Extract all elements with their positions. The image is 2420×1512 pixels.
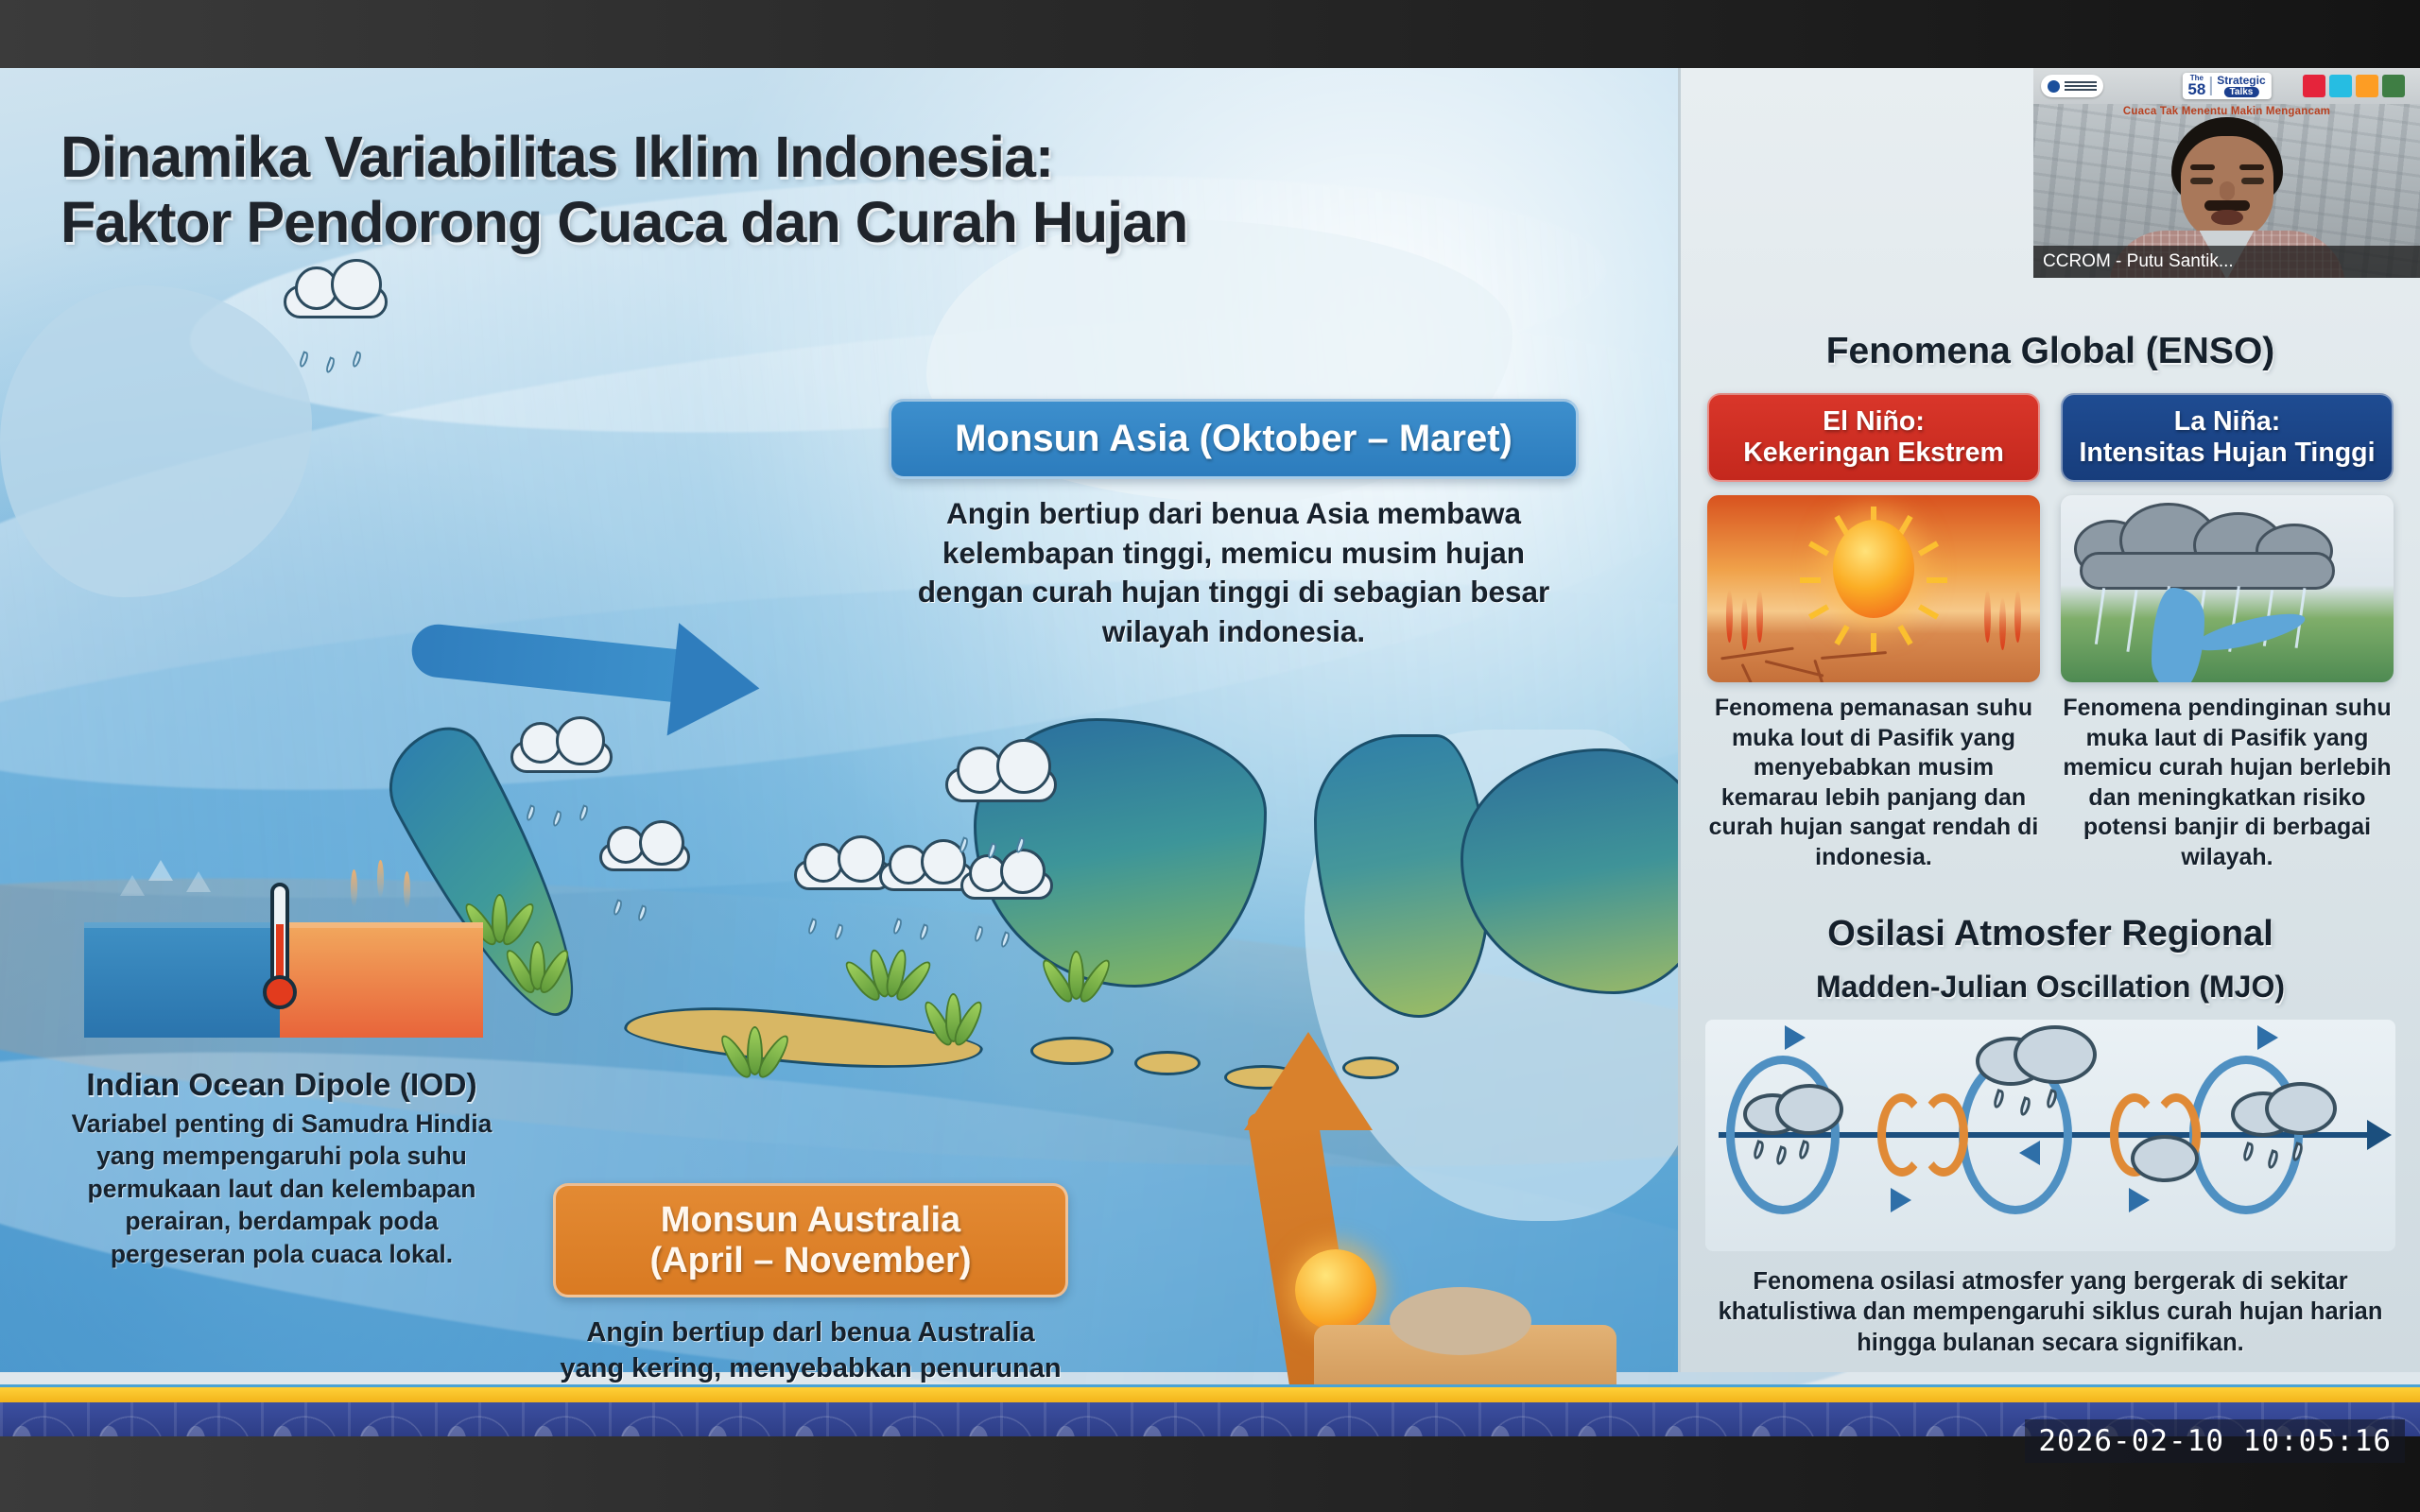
- sdg-icon-6: [2329, 75, 2352, 97]
- rain-cloud-icon: [284, 285, 388, 344]
- participant-video-tile[interactable]: The 58 Strategic Talks Cuaca Tak Menentu…: [2033, 68, 2420, 278]
- rain-cloud-icon: [794, 860, 892, 915]
- el-nino-tag: El Niño: Kekeringan Ekstrem: [1707, 393, 2040, 482]
- rain-cloud-icon: [599, 843, 690, 894]
- pip-banner-text: Cuaca Tak Menentu Makin Mengancam: [2033, 106, 2420, 117]
- iod-description: Variabel penting di Samudra Hindia yang …: [55, 1108, 509, 1270]
- dust-cloud-icon: [1390, 1287, 1531, 1355]
- footer-gold-band: [0, 1387, 2420, 1402]
- iod-heading: Indian Ocean Dipole (IOD): [55, 1068, 509, 1104]
- enso-heading: Fenomena Global (ENSO): [1681, 331, 2420, 372]
- osilasi-heading: Osilasi Atmosfer Regional: [1681, 914, 2420, 954]
- nose: [2220, 181, 2235, 200]
- sun-icon: [1833, 520, 1914, 618]
- island-nusa-tenggara: [1030, 1037, 1114, 1065]
- el-nino-description: Fenomena pemanasan suhu muka lout di Pas…: [1707, 694, 2040, 872]
- cloud-icon: [2014, 1025, 2097, 1084]
- cloud-icon: [1775, 1084, 1843, 1135]
- badge-divider: [2210, 77, 2212, 95]
- rain-cloud-icon: [879, 862, 974, 915]
- logo-wordmark: [2065, 81, 2097, 91]
- monsun-australia-pill-line-2: (April – November): [650, 1241, 972, 1280]
- event-badge-number: 58: [2187, 82, 2205, 97]
- title-line-1: Dinamika Variabilitas Iklim Indonesia:: [60, 125, 1053, 189]
- drought-illustration: [1707, 495, 2040, 682]
- heavy-rain-illustration: [2061, 495, 2394, 682]
- convection-curl-icon: [1919, 1093, 1968, 1177]
- warm-sea-slab: [280, 922, 483, 1038]
- logo-mark-icon: [2048, 80, 2060, 93]
- equator-arrow-icon: [2367, 1120, 2392, 1150]
- island-nusa-tenggara: [1134, 1051, 1201, 1075]
- sdg-icon-15: [2382, 75, 2405, 97]
- video-player: Dinamika Variabilitas Iklim Indonesia: F…: [0, 0, 2420, 1512]
- event-badge-strategic: Strategic: [2217, 75, 2265, 86]
- timestamp-overlay: 2026-02-10 10:05:16: [2025, 1419, 2405, 1463]
- la-nina-tag-line-2: Intensitas Hujan Tinggi: [2080, 438, 2376, 468]
- mjo-diagram: [1705, 1020, 2395, 1251]
- thermometer-icon: [258, 883, 302, 1022]
- monsun-australia-pill: Monsun Australia (April – November): [553, 1183, 1068, 1297]
- la-nina-tag-line-1: La Niña:: [2174, 406, 2280, 437]
- cloud-icon: [2265, 1082, 2337, 1135]
- page-title: Dinamika Variabilitas Iklim Indonesia: F…: [60, 125, 1668, 255]
- monsun-asia-pill: Monsun Asia (Oktober – Maret): [889, 399, 1579, 479]
- title-line-2: Faktor Pendorong Cuaca dan Curah Hujan: [60, 190, 1668, 255]
- rain-cloud-icon: [960, 871, 1053, 922]
- mjo-description: Fenomena osilasi atmosfer yang bergerak …: [1703, 1266, 2397, 1358]
- la-nina-description: Fenomena pendinginan suhu muka laut di P…: [2061, 694, 2394, 872]
- sun-icon: [1295, 1249, 1376, 1331]
- el-nino-tag-line-1: El Niño:: [1823, 406, 1925, 437]
- sdg-icon-11: [2356, 75, 2378, 97]
- monsun-asia-description: Angin bertiup dari benua Asia membawa ke…: [889, 494, 1579, 651]
- la-nina-card: La Niña: Intensitas Hujan Tinggi: [2061, 393, 2394, 872]
- mouth: [2211, 210, 2243, 225]
- enso-row: El Niño: Kekeringan Ekstrem: [1681, 393, 2420, 872]
- iod-illustration: [67, 854, 497, 1055]
- circulation-loop-icon: [1726, 1056, 1840, 1214]
- circulation-loop-icon: [2189, 1056, 2303, 1214]
- cloud-icon: [2131, 1135, 2199, 1182]
- organizer-logo: [2041, 75, 2103, 97]
- el-nino-card: El Niño: Kekeringan Ekstrem: [1707, 393, 2040, 872]
- el-nino-tag-line-2: Kekeringan Ekstrem: [1743, 438, 2004, 468]
- la-nina-tag: La Niña: Intensitas Hujan Tinggi: [2061, 393, 2394, 482]
- event-badge-talks: Talks: [2224, 87, 2259, 97]
- iod-block: Indian Ocean Dipole (IOD) Variabel penti…: [55, 854, 509, 1270]
- event-badge: The 58 Strategic Talks: [2182, 73, 2271, 99]
- monsun-asia-block: Monsun Asia (Oktober – Maret) Angin bert…: [889, 399, 1579, 651]
- mjo-subheading: Madden-Julian Oscillation (MJO): [1681, 970, 2420, 1005]
- monsun-australia-pill-line-1: Monsun Australia: [661, 1200, 960, 1240]
- sdg-icon-1: [2303, 75, 2325, 97]
- participant-name-label: CCROM - Putu Santik...: [2033, 246, 2420, 278]
- rain-cloud-icon: [945, 767, 1057, 830]
